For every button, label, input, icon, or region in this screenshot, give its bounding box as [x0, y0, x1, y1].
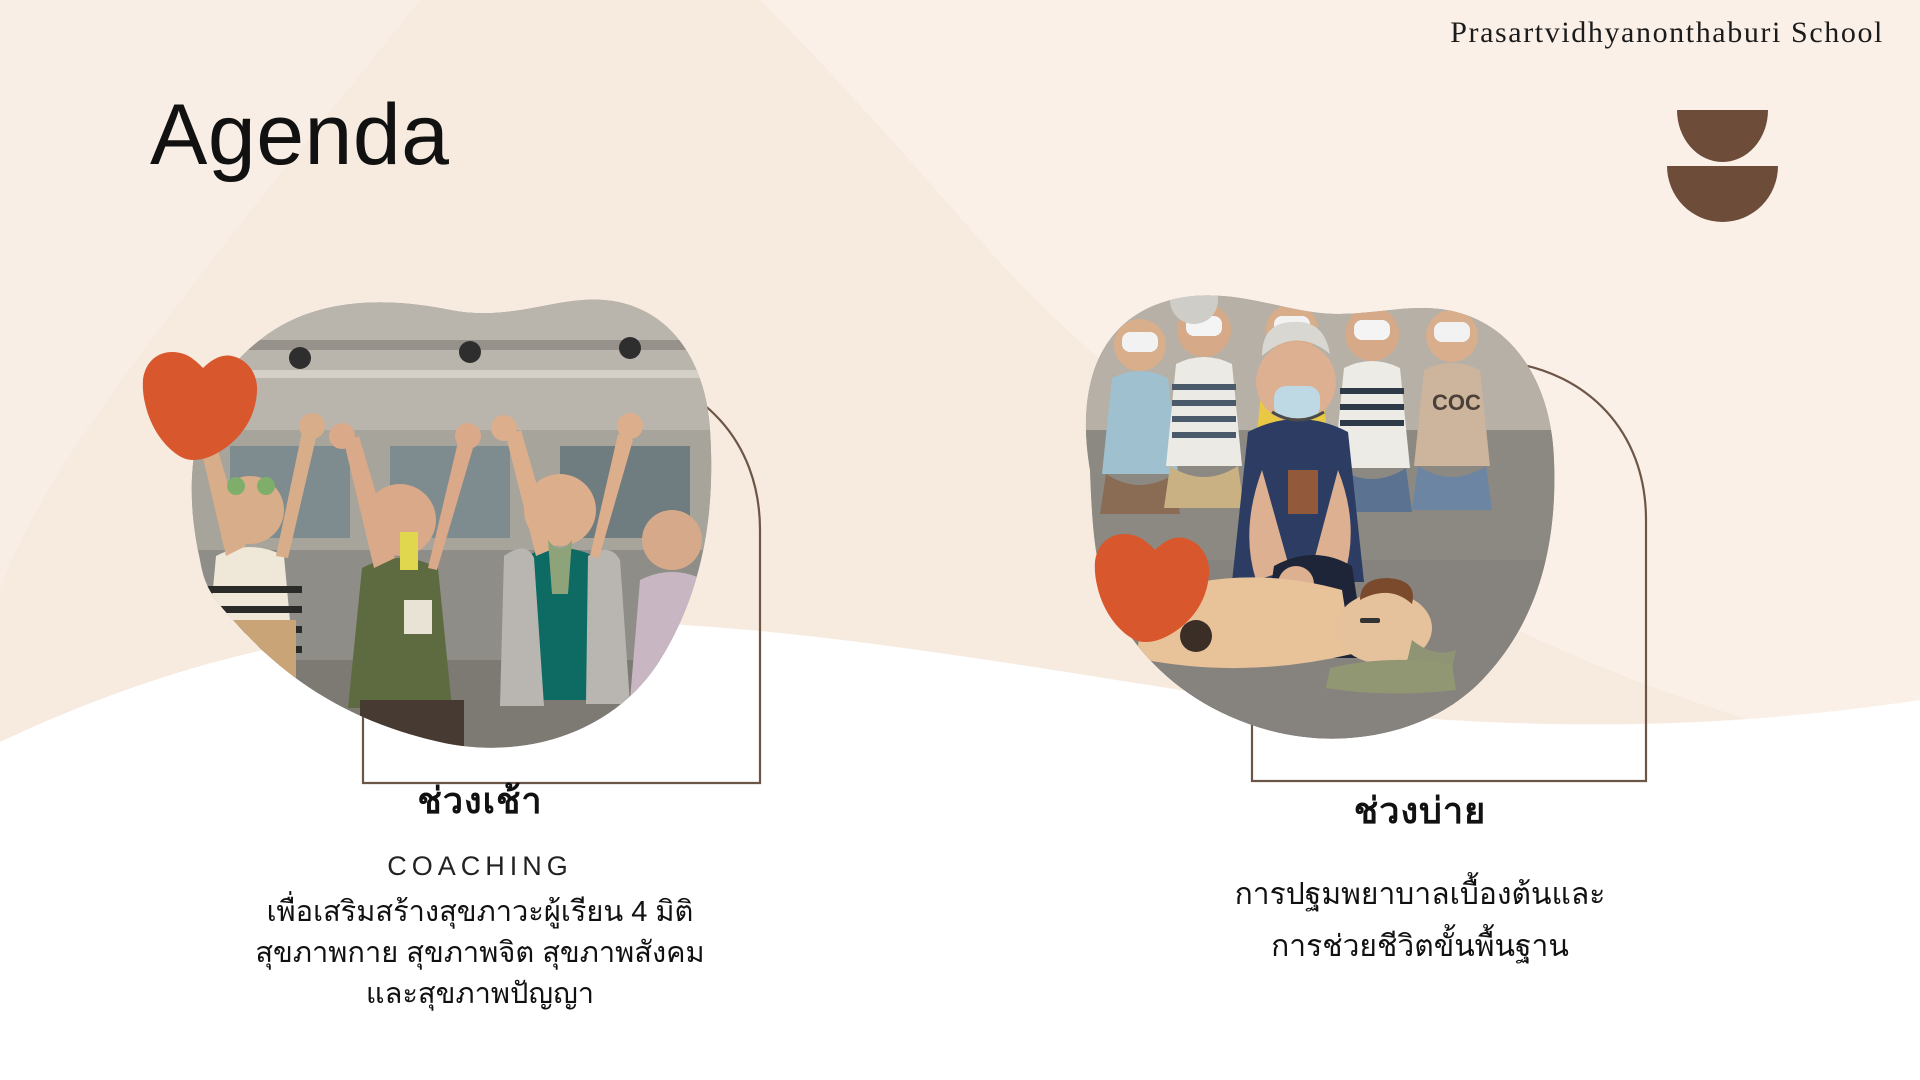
session-body-line: และสุขภาพปัญญา	[120, 974, 840, 1015]
slide-canvas: Prasartvidhyanonthaburi School Agenda	[0, 0, 1920, 1080]
session-body-line: การปฐมพยาบาลเบื้องต้นและ	[1040, 869, 1800, 921]
session-title-morning: ช่วงเช้า	[120, 778, 840, 823]
svg-text:COC: COC	[1432, 390, 1481, 415]
caption-afternoon: ช่วงบ่าย การปฐมพยาบาลเบื้องต้นและ การช่ว…	[1040, 788, 1800, 972]
session-body-line: สุขภาพกาย สุขภาพจิต สุขภาพสังคม	[120, 933, 840, 974]
session-subtitle-morning: COACHING	[120, 851, 840, 882]
session-body-line: เพื่อเสริมสร้างสุขภาวะผู้เรียน 4 มิติ	[120, 892, 840, 933]
session-body-morning: เพื่อเสริมสร้างสุขภาวะผู้เรียน 4 มิติ สุ…	[120, 892, 840, 1016]
accent-blob-afternoon-icon	[1092, 530, 1212, 650]
session-title-afternoon: ช่วงบ่าย	[1040, 788, 1800, 833]
session-body-line: การช่วยชีวิตขั้นพื้นฐาน	[1040, 921, 1800, 973]
session-body-afternoon: การปฐมพยาบาลเบื้องต้นและ การช่วยชีวิตขั้…	[1040, 869, 1800, 972]
caption-morning: ช่วงเช้า COACHING เพื่อเสริมสร้างสุขภาวะ…	[120, 778, 840, 1016]
